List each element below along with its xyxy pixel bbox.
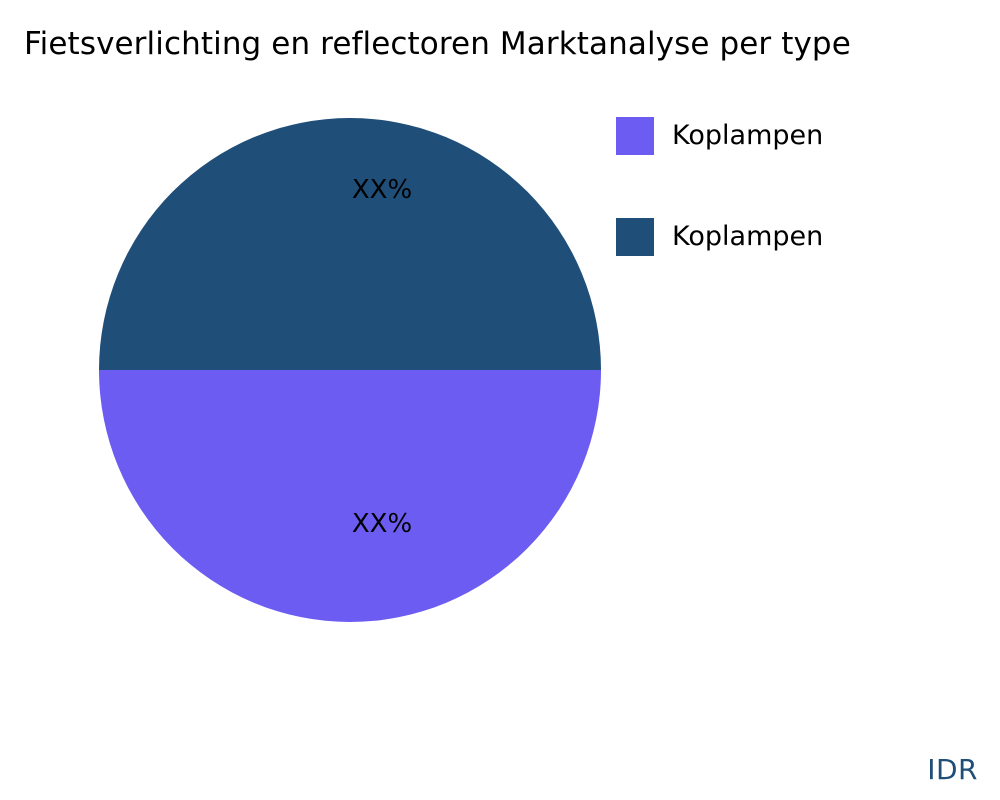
pie-slice-koplampen-dark[interactable] xyxy=(99,118,601,370)
legend-item-koplampen-dark[interactable]: Koplampen xyxy=(616,218,823,256)
legend-item-koplampen-purple[interactable]: Koplampen xyxy=(616,117,823,155)
chart-title: Fietsverlichting en reflectoren Marktana… xyxy=(24,24,964,64)
pie-svg xyxy=(99,118,601,622)
legend-swatch-icon-purple xyxy=(616,117,654,155)
pie-slice-koplampen-purple[interactable] xyxy=(99,370,601,622)
legend-label-0: Koplampen xyxy=(672,121,823,151)
watermark-idr: IDR xyxy=(927,754,978,786)
pie-chart-plot-area: XX% XX% xyxy=(99,118,601,622)
legend-swatch-icon-dark xyxy=(616,218,654,256)
pie-chart-figure: Fietsverlichting en reflectoren Marktana… xyxy=(0,0,1000,800)
legend-label-1: Koplampen xyxy=(672,222,823,252)
